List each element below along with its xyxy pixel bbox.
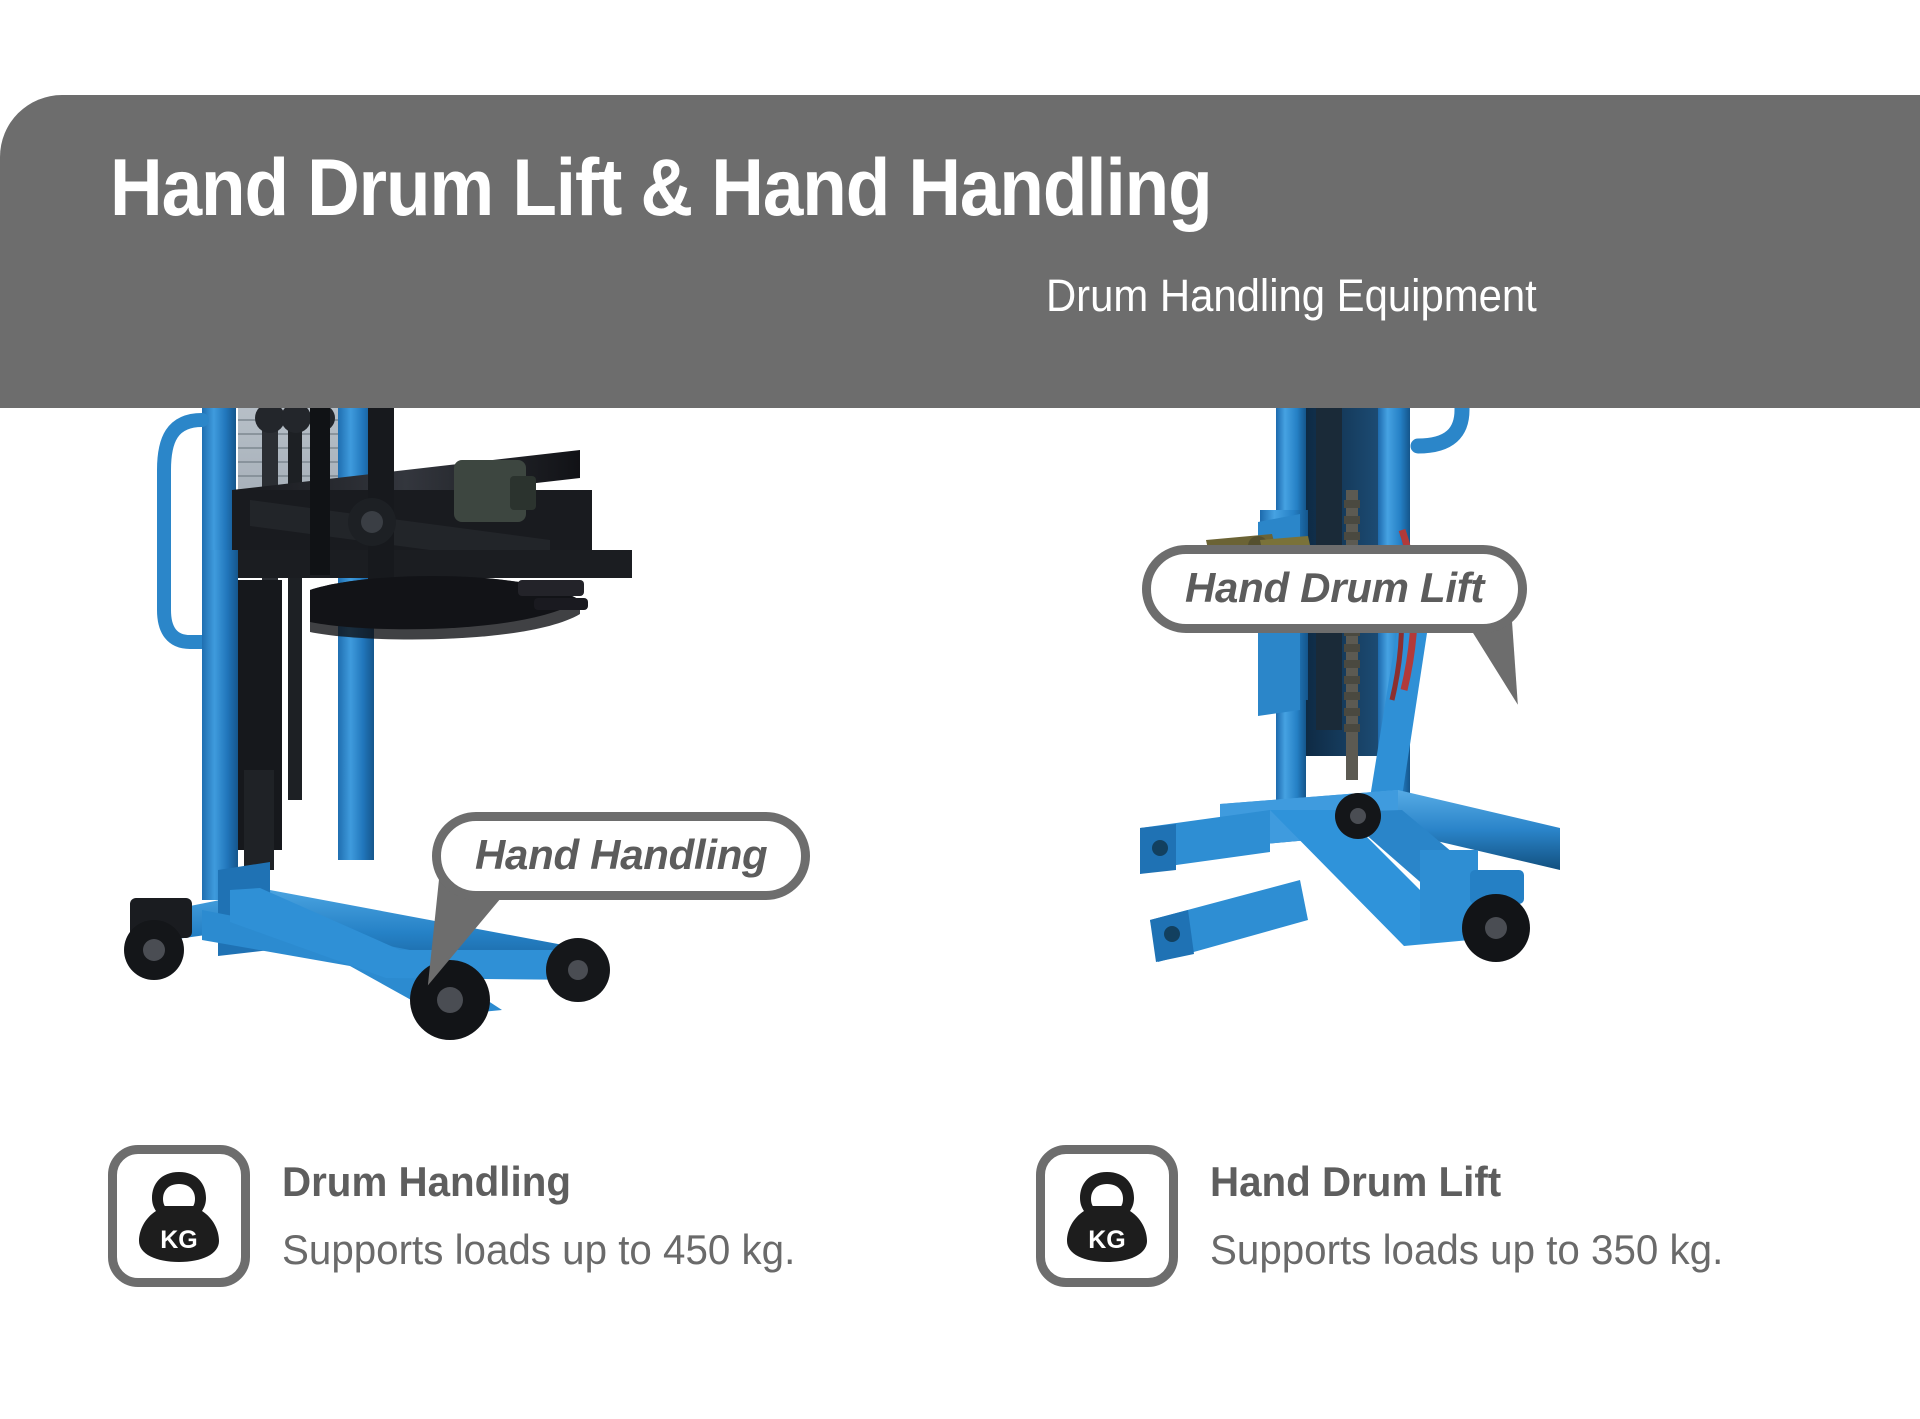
callout-bubble: Hand Handling [432, 812, 810, 900]
page-title: Hand Drum Lift & Hand Handling [110, 148, 1212, 229]
callout-label: Hand Handling [475, 831, 767, 878]
kettlebell-kg-icon: KG [108, 1145, 250, 1287]
svg-text:KG: KG [1088, 1226, 1126, 1254]
callout-label: Hand Drum Lift [1185, 564, 1484, 611]
callout-bubble: Hand Drum Lift [1142, 545, 1527, 633]
callout-hand-handling: Hand Handling [432, 812, 810, 900]
feature-text-block: Drum Handling Supports loads up to 450 k… [282, 1161, 817, 1271]
svg-text:KG: KG [160, 1226, 198, 1254]
feature-description: Supports loads up to 450 kg. [282, 1229, 795, 1271]
page-subtitle: Drum Handling Equipment [1046, 273, 1537, 318]
poster-canvas: Hand Drum Lift & Hand Handling Drum Hand… [0, 0, 1920, 1419]
feature-title: Drum Handling [282, 1161, 795, 1203]
feature-hand-drum-lift: KG Hand Drum Lift Supports loads up to 3… [1036, 1145, 1745, 1287]
feature-drum-handling: KG Drum Handling Supports loads up to 45… [108, 1145, 817, 1287]
feature-description: Supports loads up to 350 kg. [1210, 1229, 1723, 1271]
callout-hand-drum-lift: Hand Drum Lift [1142, 545, 1527, 633]
feature-text-block: Hand Drum Lift Supports loads up to 350 … [1210, 1161, 1745, 1271]
feature-title: Hand Drum Lift [1210, 1161, 1723, 1203]
kettlebell-kg-icon: KG [1036, 1145, 1178, 1287]
header-banner: Hand Drum Lift & Hand Handling Drum Hand… [0, 95, 1920, 408]
